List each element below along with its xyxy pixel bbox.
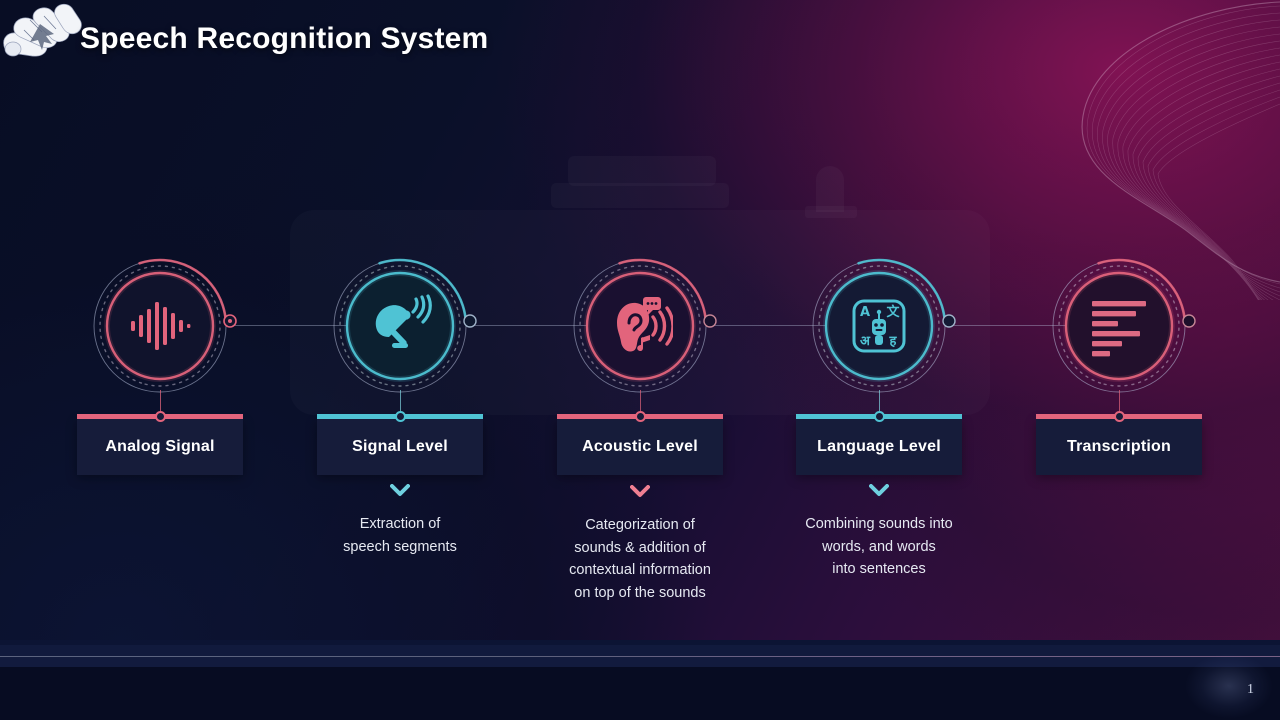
label-accent-bar-transcription xyxy=(1036,414,1202,419)
satellite-dish-icon xyxy=(367,293,433,359)
language-translation-robot-icon: A 文 अ ह xyxy=(846,293,912,359)
text-lines-document-icon xyxy=(1086,293,1152,359)
node-analog-signal[interactable] xyxy=(90,256,230,396)
description-signal-level: Extraction ofspeech segments xyxy=(310,513,490,558)
svg-text:ह: ह xyxy=(889,334,898,349)
label-text-signal-level: Signal Level xyxy=(352,438,448,456)
stem-analog-signal xyxy=(160,390,161,413)
label-text-transcription: Transcription xyxy=(1067,438,1171,456)
node-language-level[interactable]: A 文 अ ह xyxy=(809,256,949,396)
slide-canvas: Speech Recognition System xyxy=(0,0,1280,720)
svg-text:文: 文 xyxy=(886,304,900,320)
page-number: 1 xyxy=(1247,682,1254,698)
label-text-acoustic-level: Acoustic Level xyxy=(582,438,698,456)
ear-sound-waves-icon xyxy=(607,293,673,359)
svg-text:अ: अ xyxy=(860,334,871,349)
stem-signal-level xyxy=(400,390,401,413)
label-accent-bar-acoustic-level xyxy=(557,414,723,419)
label-accent-bar-language-level xyxy=(796,414,962,419)
chevron-down-icon-signal-level xyxy=(390,484,410,498)
description-acoustic-level: Categorization ofsounds & addition ofcon… xyxy=(540,514,740,604)
label-text-language-level: Language Level xyxy=(817,438,941,456)
label-box-signal-level[interactable]: Signal Level xyxy=(317,419,483,475)
label-box-analog-signal[interactable]: Analog Signal xyxy=(77,419,243,475)
label-bar-dot-signal-level xyxy=(395,411,406,422)
node-connector-dot-language-level xyxy=(941,313,957,329)
node-connector-dot-acoustic-level xyxy=(702,313,718,329)
stem-language-level xyxy=(879,390,880,413)
footer-background xyxy=(0,667,1280,720)
node-signal-level[interactable] xyxy=(330,256,470,396)
stem-transcription xyxy=(1119,390,1120,413)
chevron-down-icon-acoustic-level xyxy=(630,485,650,499)
footer-band-lower xyxy=(0,657,1280,667)
label-accent-bar-signal-level xyxy=(317,414,483,419)
label-text-analog-signal: Analog Signal xyxy=(105,438,214,456)
label-bar-dot-transcription xyxy=(1114,411,1125,422)
label-accent-bar-analog-signal xyxy=(77,414,243,419)
audio-waveform-icon xyxy=(127,293,193,359)
svg-text:A: A xyxy=(860,305,870,320)
node-connector-dot-analog-signal xyxy=(222,313,238,329)
pipeline-diagram: Analog Signal xyxy=(0,0,1280,720)
page-number-glow xyxy=(1186,654,1272,718)
label-bar-dot-language-level xyxy=(874,411,885,422)
node-acoustic-level[interactable] xyxy=(570,256,710,396)
description-language-level: Combining sounds intowords, and wordsint… xyxy=(779,513,979,581)
label-box-acoustic-level[interactable]: Acoustic Level xyxy=(557,419,723,475)
label-bar-dot-analog-signal xyxy=(155,411,166,422)
node-connector-dot-transcription xyxy=(1181,313,1197,329)
node-connector-dot-signal-level xyxy=(462,313,478,329)
footer-band-mid xyxy=(0,645,1280,656)
label-bar-dot-acoustic-level xyxy=(635,411,646,422)
stem-acoustic-level xyxy=(640,390,641,413)
label-box-transcription[interactable]: Transcription xyxy=(1036,419,1202,475)
label-box-language-level[interactable]: Language Level xyxy=(796,419,962,475)
chevron-down-icon-language-level xyxy=(869,484,889,498)
node-transcription[interactable] xyxy=(1049,256,1189,396)
